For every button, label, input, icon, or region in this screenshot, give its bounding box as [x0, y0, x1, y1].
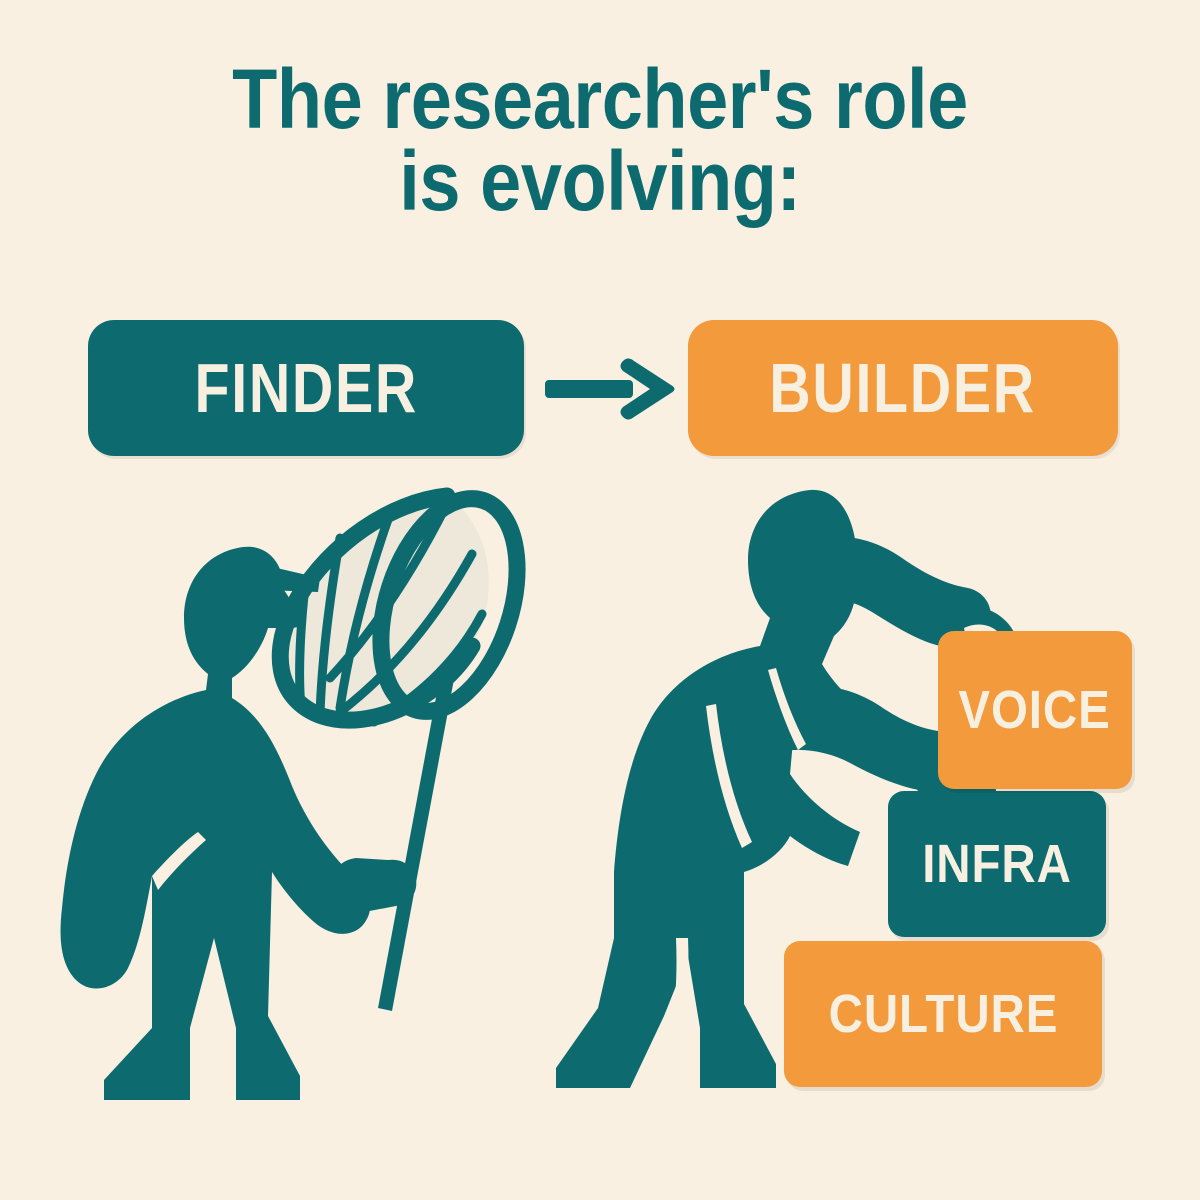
block-voice-label: VOICE: [959, 679, 1111, 741]
arrow-right-icon: [545, 355, 680, 423]
block-infra-label: INFRA: [922, 833, 1072, 895]
page-title: The researcher's role is evolving:: [72, 58, 1128, 223]
infographic-canvas: The researcher's role is evolving: FINDE…: [0, 0, 1200, 1200]
page-title-line-1: The researcher's role: [72, 58, 1128, 140]
block-culture-label: CULTURE: [828, 983, 1058, 1045]
block-voice[interactable]: VOICE: [938, 631, 1132, 789]
page-title-line-2: is evolving:: [72, 140, 1128, 222]
block-culture[interactable]: CULTURE: [784, 941, 1102, 1087]
finder-figure: [61, 481, 542, 1100]
badge-finder-label: FINDER: [194, 348, 418, 428]
block-infra[interactable]: INFRA: [888, 791, 1106, 937]
butterfly-net-icon: [280, 481, 542, 1011]
badge-builder-label: BUILDER: [770, 348, 1037, 428]
badge-finder[interactable]: FINDER: [88, 320, 524, 456]
badge-builder[interactable]: BUILDER: [688, 320, 1118, 456]
